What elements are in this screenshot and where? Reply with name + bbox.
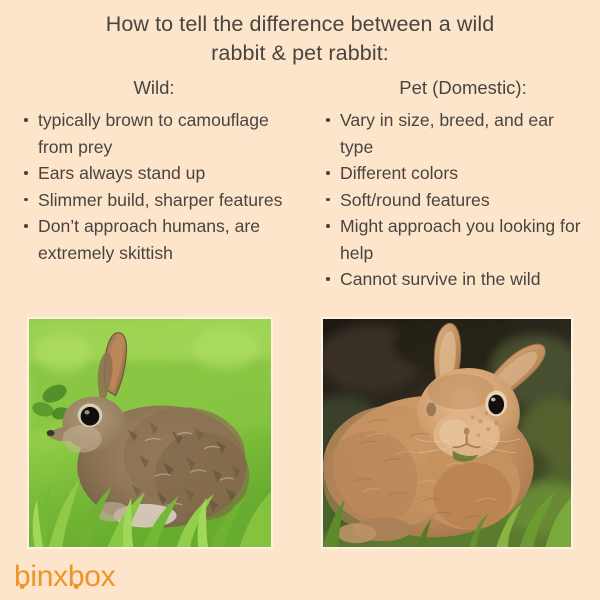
logo-letter-b1: b xyxy=(14,560,30,594)
list-item: Vary in size, breed, and ear type xyxy=(322,107,590,160)
bullet-dot-icon xyxy=(24,224,28,228)
bullet-dot-icon xyxy=(326,198,330,202)
bullet-dot-icon xyxy=(24,118,28,122)
list-item: Might approach you looking for help xyxy=(322,213,590,266)
list-item-text: typically brown to camouflage from prey xyxy=(38,110,269,157)
bullet-dot-icon xyxy=(24,198,28,202)
bullet-dot-icon xyxy=(326,224,330,228)
bullet-dot-icon xyxy=(326,171,330,175)
comparison-columns: Wild: typically brown to camouflage from… xyxy=(0,76,600,293)
column-heading-wild: Wild: xyxy=(22,76,286,100)
brand-logo[interactable]: b inx b ox xyxy=(14,560,115,594)
list-item: Don’t approach humans, are extremely ski… xyxy=(22,213,286,266)
wild-rabbit-illustration xyxy=(29,319,271,547)
logo-letter-b2: b xyxy=(68,560,84,594)
bullet-list-wild: typically brown to camouflage from prey … xyxy=(22,107,286,266)
title-line-1: How to tell the difference between a wil… xyxy=(0,10,600,39)
pet-rabbit-illustration xyxy=(323,319,571,547)
list-item-text: Ears always stand up xyxy=(38,163,205,183)
list-item-text: Soft/round features xyxy=(340,190,490,210)
list-item: Cannot survive in the wild xyxy=(322,266,590,293)
column-wild: Wild: typically brown to camouflage from… xyxy=(0,76,300,266)
list-item-text: Different colors xyxy=(340,163,458,183)
logo-letters-inx: inx xyxy=(30,560,67,594)
logo-eye-dot-icon xyxy=(74,584,79,589)
wild-rabbit-photo xyxy=(27,317,273,549)
logo-letters-ox: ox xyxy=(84,560,115,594)
bullet-dot-icon xyxy=(24,171,28,175)
pet-rabbit-photo-inner xyxy=(323,319,571,547)
wild-rabbit-photo-inner xyxy=(29,319,271,547)
list-item: Different colors xyxy=(322,160,590,187)
list-item: typically brown to camouflage from prey xyxy=(22,107,286,160)
column-pet: Pet (Domestic): Vary in size, breed, and… xyxy=(300,76,600,293)
list-item: Soft/round features xyxy=(322,187,590,214)
title-line-2: rabbit & pet rabbit: xyxy=(0,39,600,68)
logo-eye-dot-icon xyxy=(20,584,25,589)
bullet-dot-icon xyxy=(326,277,330,281)
list-item-text: Vary in size, breed, and ear type xyxy=(340,110,554,157)
bullet-list-pet: Vary in size, breed, and ear type Differ… xyxy=(322,107,590,293)
list-item: Ears always stand up xyxy=(22,160,286,187)
bullet-dot-icon xyxy=(326,118,330,122)
pet-rabbit-photo xyxy=(321,317,573,549)
column-heading-pet: Pet (Domestic): xyxy=(336,76,590,100)
list-item: Slimmer build, sharper features xyxy=(22,187,286,214)
list-item-text: Don’t approach humans, are extremely ski… xyxy=(38,216,260,263)
list-item-text: Slimmer build, sharper features xyxy=(38,190,282,210)
page-title: How to tell the difference between a wil… xyxy=(0,10,600,68)
list-item-text: Cannot survive in the wild xyxy=(340,269,540,289)
infographic-canvas: How to tell the difference between a wil… xyxy=(0,0,600,600)
list-item-text: Might approach you looking for help xyxy=(340,216,581,263)
